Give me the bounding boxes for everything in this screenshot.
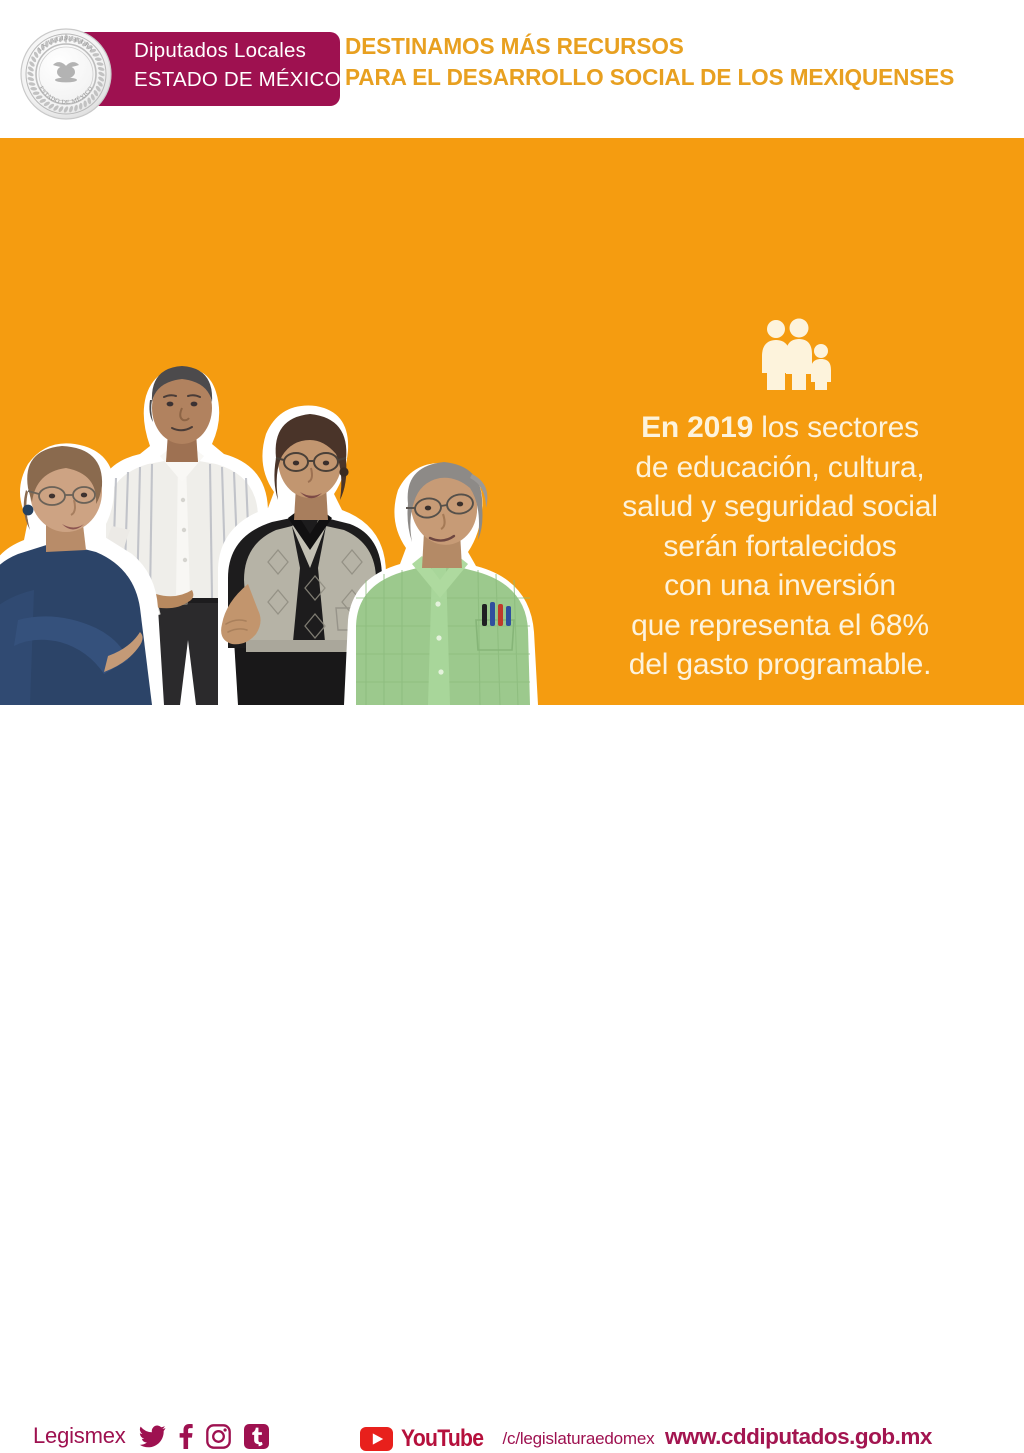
person-hombre-camisa-verde [344, 462, 538, 705]
footer-bar: Legismex [0, 705, 1024, 765]
statement-line-2: de educación, cultura, [545, 448, 1015, 488]
page-title: DESTINAMOS MÁS RECURSOS PARA EL DESARROL… [345, 31, 1024, 93]
facebook-icon[interactable] [179, 1424, 193, 1449]
page-title-line-2: PARA EL DESARROLLO SOCIAL DE LOS MEXIQUE… [345, 62, 998, 93]
page-title-line-1: DESTINAMOS MÁS RECURSOS [345, 31, 998, 62]
youtube-handle[interactable]: /c/legislaturaedomex [503, 1429, 655, 1449]
photo-adultos-mayores [0, 268, 600, 705]
social-links-group: Legismex [33, 1423, 269, 1449]
main-orange-panel: En 2019 los sectores de educación, cultu… [0, 138, 1024, 705]
legismex-label: Legismex [33, 1423, 126, 1449]
statement-line-1: En 2019 los sectores [545, 408, 1015, 448]
logo-badge-line2: ESTADO DE MÉXICO [134, 68, 341, 92]
youtube-wordmark: YouTube [401, 1425, 483, 1453]
statement-line-3: salud y seguridad social [545, 487, 1015, 527]
statement-text: En 2019 los sectores de educación, cultu… [545, 408, 1015, 685]
statement-line-6: que representa el 68% [545, 606, 1015, 646]
statement-line-4: serán fortalecidos [545, 527, 1015, 567]
youtube-link[interactable]: YouTube /c/legislaturaedomex [360, 1425, 654, 1453]
statement-bold-year: En 2019 [641, 411, 753, 444]
header-bar: Diputados Locales ESTADO DE MÉXICO [0, 0, 1024, 138]
logo-badge-line1: Diputados Locales [134, 39, 306, 63]
website-url[interactable]: www.cddiputados.gob.mx [665, 1424, 932, 1450]
statement-line-1-rest: los sectores [753, 411, 919, 444]
youtube-icon[interactable] [360, 1427, 393, 1451]
tumblr-icon[interactable] [244, 1424, 269, 1449]
statement-line-7: del gasto programable. [545, 645, 1015, 685]
instagram-icon[interactable] [206, 1424, 231, 1449]
family-icon [752, 318, 838, 390]
legislature-seal-icon: LX LEGISLATURA ESTADO DE MÉXICO [20, 28, 112, 120]
twitter-icon[interactable] [139, 1425, 166, 1448]
institution-logo: Diputados Locales ESTADO DE MÉXICO [20, 28, 340, 110]
statement-line-5: con una inversión [545, 566, 1015, 606]
poster-root: Diputados Locales ESTADO DE MÉXICO [0, 0, 1024, 765]
